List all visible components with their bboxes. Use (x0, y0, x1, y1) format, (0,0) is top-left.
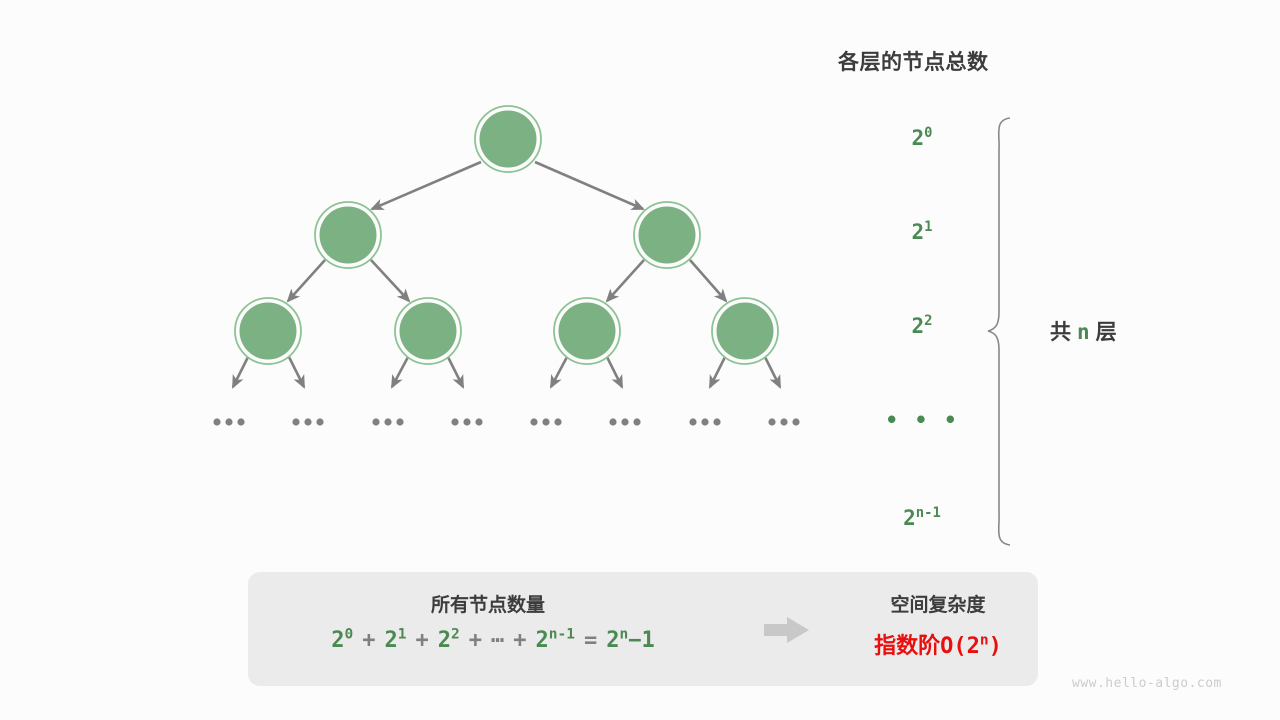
level-count-base: 2 (903, 506, 916, 530)
tree-node (235, 298, 301, 364)
formula-term-last: 2n-1 (536, 628, 575, 653)
tree-node-root (475, 106, 541, 172)
level-count-base: 2 (911, 220, 924, 244)
leaf-ellipsis-row (213, 418, 799, 425)
leaf-ellipsis (609, 418, 640, 425)
right-arrow-icon (764, 616, 810, 644)
tree-node (395, 298, 461, 364)
level-count-exponent: 2 (924, 313, 932, 329)
level-count-label-0: 20 (882, 126, 962, 150)
level-count-exponent: 0 (924, 125, 932, 141)
leaf-ellipsis (292, 418, 323, 425)
space-complexity-value: 指数阶O(2n) (828, 628, 1048, 660)
diagram-canvas: 各层的节点总数 20 21 22 • • • 2n-1 共n层 所有节点数量 2… (0, 0, 1280, 720)
formula-term-1: 21 (385, 628, 407, 653)
tree-node (634, 202, 700, 268)
level-count-exponent: 1 (924, 219, 932, 235)
leaf-ellipsis (372, 418, 403, 425)
leaf-ellipsis (689, 418, 720, 425)
levels-brace-icon (988, 118, 1010, 545)
complexity-order-label: 指数阶 (874, 634, 940, 659)
formula-equals: = (584, 628, 597, 653)
formula-operator: + (513, 628, 526, 653)
complexity-notation: O(2n) (940, 634, 1002, 659)
total-levels-variable: n (1071, 320, 1096, 344)
tree-node (554, 298, 620, 364)
node-total-formula: 20+21+22+⋯+2n-1=2n−1 (288, 628, 698, 653)
formula-term-0: 20 (331, 628, 353, 653)
summary-panel: 所有节点数量 20+21+22+⋯+2n-1=2n−1 空间复杂度 指数阶O(2… (248, 572, 1038, 686)
formula-term-2: 22 (438, 628, 460, 653)
leaf-ellipsis (768, 418, 799, 425)
tree-edges (233, 162, 780, 387)
leaf-ellipsis (530, 418, 561, 425)
formula-result: 2n−1 (606, 628, 655, 653)
formula-operator: + (416, 628, 429, 653)
formula-operator: + (362, 628, 375, 653)
tree-node (315, 202, 381, 268)
level-count-label-2: 22 (882, 314, 962, 338)
tree-node (712, 298, 778, 364)
total-levels-suffix: 层 (1096, 321, 1117, 344)
total-levels-label: 共n层 (1050, 316, 1117, 346)
formula-ellipsis: ⋯ (491, 628, 504, 653)
level-count-label-1: 21 (882, 220, 962, 244)
leaf-ellipsis (213, 418, 244, 425)
level-count-ellipsis: • • • (882, 408, 962, 432)
space-complexity-heading: 空间复杂度 (838, 590, 1038, 617)
leaf-ellipsis (451, 418, 482, 425)
node-total-heading: 所有节点数量 (368, 590, 608, 617)
tree-nodes (235, 106, 778, 364)
total-levels-prefix: 共 (1050, 321, 1071, 344)
level-count-label-last: 2n-1 (882, 506, 962, 530)
level-count-base: 2 (911, 314, 924, 338)
levels-column-title: 各层的节点总数 (838, 46, 1058, 76)
level-count-exponent: n-1 (916, 505, 941, 521)
watermark: www.hello-algo.com (1072, 676, 1222, 691)
formula-operator: + (469, 628, 482, 653)
level-count-base: 2 (911, 126, 924, 150)
